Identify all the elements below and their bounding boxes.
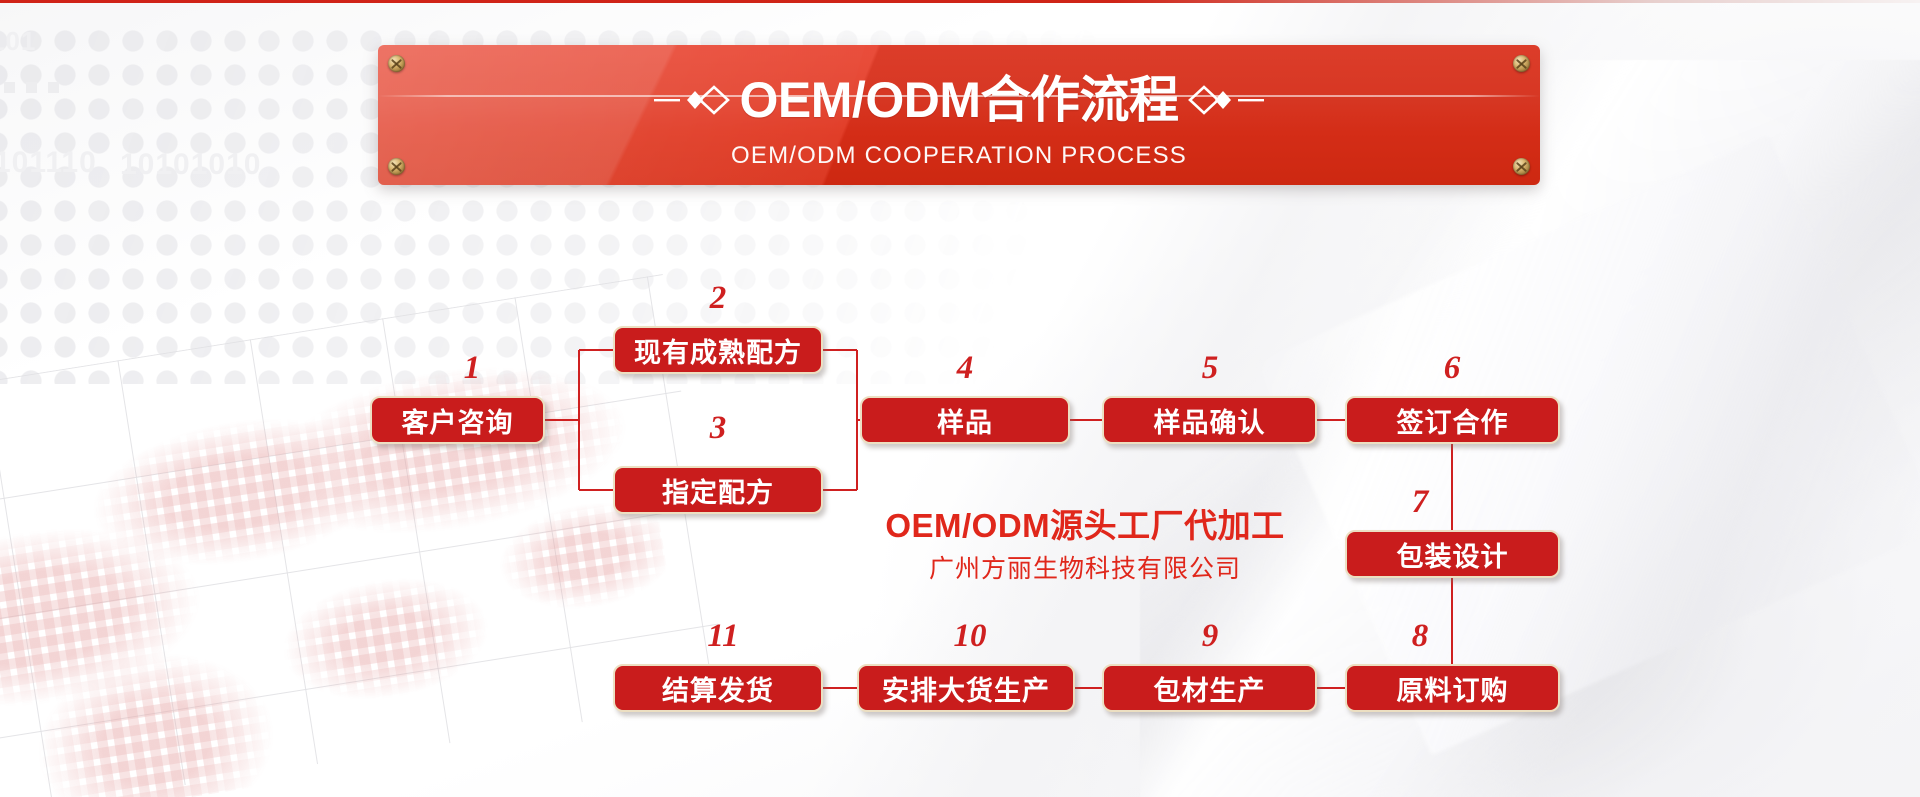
- caption-main-text: OEM/ODM源头工厂代加工: [850, 505, 1320, 547]
- screw-icon-top-right: [1513, 55, 1530, 72]
- diamond-deco-left-icon: [654, 83, 730, 117]
- flow-node-settle-shipment[interactable]: 结算发货: [613, 664, 823, 712]
- pixel-square-2: [26, 82, 37, 93]
- step-number-4: 4: [950, 352, 980, 385]
- caption-company-name: 广州方丽生物科技有限公司: [850, 553, 1320, 585]
- step-number-10: 10: [950, 620, 990, 653]
- diamond-deco-right-icon: [1188, 83, 1264, 117]
- flow-node-material-order[interactable]: 原料订购: [1345, 664, 1560, 712]
- step-number-2: 2: [703, 282, 733, 315]
- banner: OEM/ODM合作流程 OEM/ODM COOPERATION PROCESS: [378, 45, 1540, 185]
- center-caption: OEM/ODM源头工厂代加工 广州方丽生物科技有限公司: [850, 505, 1320, 585]
- step-number-5: 5: [1195, 352, 1225, 385]
- flow-node-package-design[interactable]: 包装设计: [1345, 530, 1560, 578]
- step-number-3: 3: [703, 412, 733, 445]
- flow-node-packaging-product[interactable]: 包材生产: [1102, 664, 1317, 712]
- page-root: 101 101110 10101010 OEM/ODM合作流程: [0, 0, 1920, 797]
- binary-text-1: 101: [0, 26, 36, 57]
- step-number-6: 6: [1437, 352, 1467, 385]
- top-accent-rule: [0, 0, 1920, 3]
- pixel-square-1: [4, 82, 15, 93]
- screw-icon-top-left: [388, 55, 405, 72]
- binary-text-3: 10101010: [120, 148, 261, 182]
- flow-node-sample-confirm[interactable]: 样品确认: [1102, 396, 1317, 444]
- flow-node-sign-contract[interactable]: 签订合作: [1345, 396, 1560, 444]
- step-number-9: 9: [1195, 620, 1225, 653]
- binary-text-2: 101110: [0, 146, 97, 180]
- flow-node-specified-formula[interactable]: 指定配方: [613, 466, 823, 514]
- flow-node-sample[interactable]: 样品: [860, 396, 1070, 444]
- step-number-1: 1: [457, 352, 487, 385]
- banner-plate: OEM/ODM合作流程 OEM/ODM COOPERATION PROCESS: [378, 45, 1540, 185]
- banner-title-row: OEM/ODM合作流程: [378, 71, 1540, 129]
- pixel-square-3: [48, 82, 59, 93]
- banner-subtitle: OEM/ODM COOPERATION PROCESS: [378, 142, 1540, 170]
- flow-node-bulk-production[interactable]: 安排大货生产: [857, 664, 1075, 712]
- banner-title: OEM/ODM合作流程: [732, 72, 1187, 128]
- step-number-11: 11: [703, 620, 743, 653]
- flow-node-existing-formula[interactable]: 现有成熟配方: [613, 326, 823, 374]
- step-number-8: 8: [1405, 620, 1435, 653]
- flow-node-customer-inquiry[interactable]: 客户咨询: [370, 396, 545, 444]
- step-number-7: 7: [1405, 486, 1435, 519]
